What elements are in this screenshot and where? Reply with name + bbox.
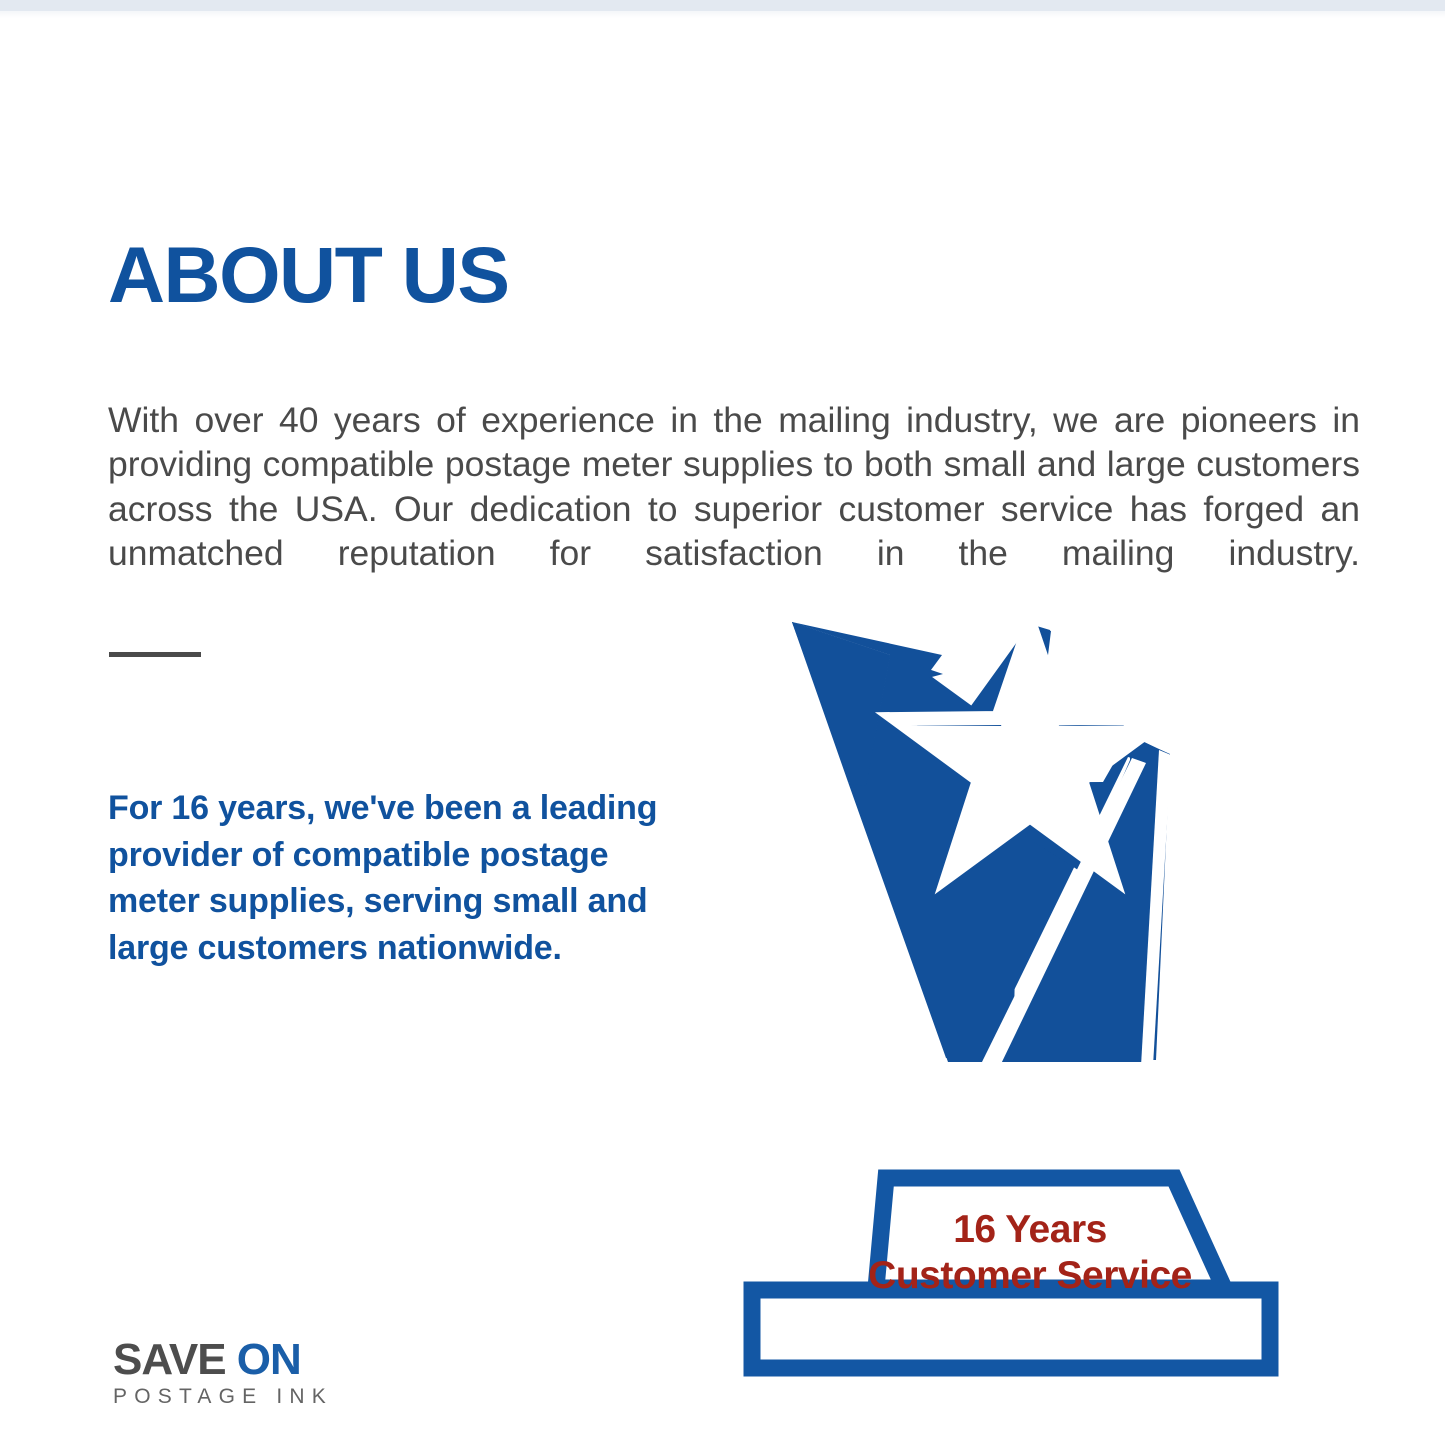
top-band-fade [0,11,1445,18]
highlight-statement: For 16 years, we've been a leading provi… [108,785,678,971]
logo-tagline: POSTAGE INK [113,1386,353,1408]
about-us-page: ABOUT US With over 40 years of experienc… [0,0,1445,1440]
top-band [0,0,1445,11]
company-logo: SAVE ON POSTAGE INK [113,1338,353,1408]
section-divider [109,652,201,657]
plaque-line-2: Customer Service [868,1254,1192,1297]
page-title: ABOUT US [108,232,509,318]
intro-paragraph: With over 40 years of experience in the … [108,398,1360,621]
logo-word-on: ON [237,1335,301,1384]
logo-word-save: SAVE [113,1335,237,1384]
trophy-plinth [752,1290,1270,1368]
trophy-award-illustration: 16 Years Customer Service [700,600,1320,1440]
logo-wordmark: SAVE ON [113,1338,353,1382]
plaque-line-1: 16 Years [953,1208,1107,1251]
